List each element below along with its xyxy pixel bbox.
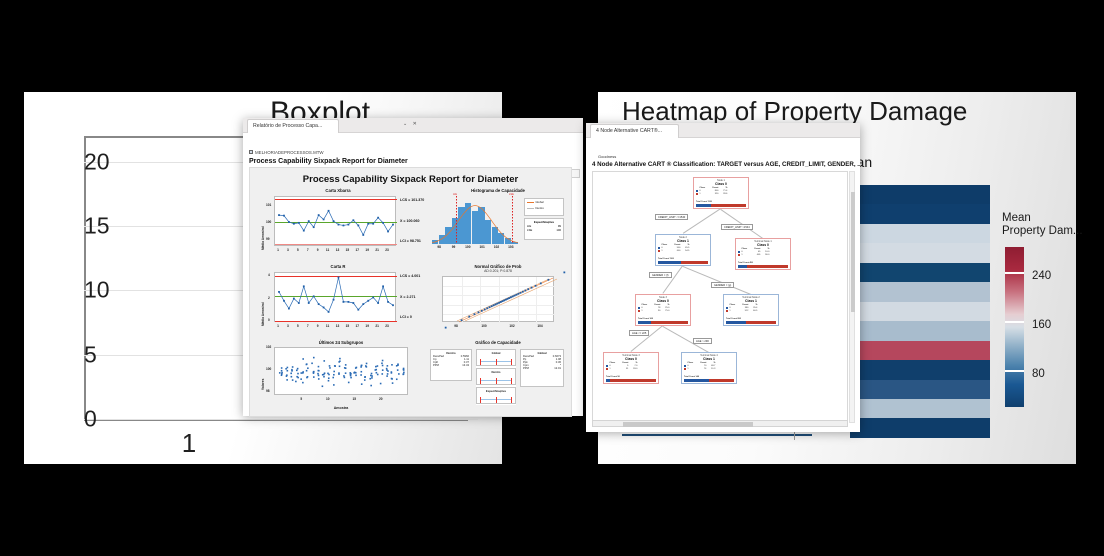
xbar-limit-label: LCI = 98.751 [400, 239, 421, 243]
histogram-x-tick: 101 [479, 245, 484, 249]
xbar-x-tick: 5 [297, 248, 299, 252]
r-x-tick: 13 [336, 324, 340, 328]
cart-hscroll-thumb[interactable] [623, 422, 753, 427]
cart-split-label: AGE > 290 [693, 338, 712, 344]
cart-tree-canvas[interactable]: Node 1Class 0ClassCount%080071.4132028.6… [592, 171, 848, 423]
r-plot-area [274, 272, 396, 322]
capability-mid-box: Global [476, 349, 516, 366]
cart-node-table-row: 15193.0 [606, 368, 656, 371]
xbar-x-tick: 21 [375, 248, 379, 252]
colorbar-tick-label: 160 [1032, 319, 1051, 331]
last-y-tick: 100 [266, 367, 271, 371]
normal-plot-area [442, 276, 554, 322]
cart-node-row-count: 74 [695, 368, 706, 371]
cart-node-row-pct: 90.0 [761, 254, 769, 257]
cart-node-row-swatch [738, 254, 740, 256]
colorbar-title-line2: Property Dam... [1002, 225, 1080, 238]
r-x-tick: 11 [326, 324, 329, 328]
r-y-tick: 2 [268, 296, 270, 300]
cart-node-row-swatch [726, 310, 728, 312]
cart-node-table: ClassCount%07048.717451.3 [682, 361, 736, 370]
capability-mid-tick [511, 378, 512, 384]
xbar-y-tick: 101 [266, 203, 271, 207]
histogram-plot-area [432, 196, 518, 244]
capability-panel: Gráfico de Capacidade DentroDesvPad0.596… [428, 340, 568, 416]
cart-node-bar [696, 204, 746, 207]
heatmap-colorbar-legend: Mean Property Dam... 24016080 [1002, 212, 1080, 407]
capability-within-box: DentroDesvPad0.5966Cp1.11CpK0.37PPM13.43 [430, 349, 472, 381]
cart-node-table: ClassCount%04510.0140590.0 [736, 247, 790, 256]
cart-node-table: ClassCount%080071.4132028.6 [694, 186, 748, 195]
histogram-spec-mark: LSE [509, 193, 514, 196]
histogram-legend-swatch [527, 208, 534, 209]
cart-node-row-class: 1 [661, 250, 668, 253]
r-x-tick: 17 [356, 324, 360, 328]
heatmap-cell [850, 282, 990, 301]
histogram-spec-line [456, 196, 457, 244]
xbar-series-points [275, 197, 395, 245]
screenshot-canvas: Boxplot 05101520 1 Heatmap of Property D… [0, 0, 1104, 556]
cart-node-table-row: 140590.0 [738, 254, 788, 257]
cart-node-row-pct: 28.6 [719, 193, 727, 196]
histogram-panel: Histograma de Capacidade GlobalDentro Es… [428, 188, 568, 260]
worksheet-icon [249, 150, 253, 154]
colorbar-wrap: 24016080 [1002, 247, 1080, 407]
cart-node-table-row: 19075.0 [638, 310, 688, 313]
capability-mid-tick [496, 378, 497, 384]
r-y-tick: 4 [268, 273, 270, 277]
cart-node: Terminal Node 2Class 1ClassCount%038035.… [723, 294, 779, 326]
cart-node: Terminal Node 4Class 1ClassCount%07048.7… [681, 352, 737, 384]
boxplot-x-category: 1 [24, 428, 354, 459]
xbar-y-tick: 100 [266, 220, 271, 224]
cart-node-row-class: 1 [609, 368, 616, 371]
xbar-x-tick: 7 [307, 248, 309, 252]
last-subgroups-points [275, 348, 407, 394]
capability-mid-tick [480, 378, 481, 384]
r-x-tick: 3 [287, 324, 289, 328]
normal-plot-points [443, 277, 553, 321]
cart-node-row-class: 1 [741, 254, 748, 257]
r-y-tick: 0 [268, 318, 270, 322]
cart-split-label: AGE <= 225 [629, 330, 649, 336]
capability-mid-title: Especificações [477, 388, 515, 393]
cart-node-bar-blue [658, 261, 681, 264]
heatmap-cell [850, 302, 990, 321]
heatmap-cell [850, 399, 990, 418]
cart-node-bar [606, 379, 656, 382]
xbar-x-tick: 19 [365, 248, 369, 252]
normal-plot-x-tick: 98 [454, 324, 458, 328]
heatmap-cell [850, 224, 990, 243]
last-subgroups-panel: Últimos 24 Subgrupos Valores Amostra 102… [258, 340, 424, 416]
cart-node: Node 2Class 1ClassCount%050045.5160054.5… [655, 234, 711, 266]
capability-overall-box: GlobalDesvPad0.6673Pp1.08Ppk0.36Cpm*PPM1… [520, 349, 564, 387]
minitab-worksheet-name: MELHORIADEPROCESSOS.MTW [249, 150, 324, 155]
r-x-tick: 9 [317, 324, 319, 328]
r-series-points [275, 273, 395, 321]
histogram-x-tick: 102 [494, 245, 499, 249]
xbar-x-tick: 13 [336, 248, 340, 252]
minitab-command-header: Process Capability Sixpack Report for Di… [249, 158, 408, 165]
histogram-x-tick: 99 [452, 245, 456, 249]
histogram-spec-line [512, 196, 513, 244]
histogram-legend-swatch [527, 202, 534, 203]
within-stat-value: 13.43 [462, 364, 469, 367]
last-x-tick: 10 [326, 397, 330, 401]
cart-node-bar-blue [726, 321, 746, 324]
cart-node-bar-blue [696, 204, 711, 207]
cart-node-bar-red [746, 321, 776, 324]
capability-mid-column: GlobalDentroEspecificações [476, 349, 516, 405]
capability-mid-box: Especificações [476, 387, 516, 404]
cart-node-table-row: 17451.3 [684, 368, 734, 371]
colorbar-title: Mean Property Dam... [1002, 212, 1080, 238]
cart-node-table-row: 151260.5 [726, 310, 776, 313]
r-x-tick: 7 [307, 324, 309, 328]
r-chart-panel: Carta R Média Amostral 02413579111315171… [258, 264, 418, 336]
within-stat-row: PPM13.43 [431, 364, 471, 367]
heatmap-cell [850, 204, 990, 223]
capability-mid-title: Global [477, 350, 515, 355]
cart-node-row-count: 512 [737, 310, 748, 313]
xbar-x-tick: 9 [317, 248, 319, 252]
cart-node-table: ClassCount%050045.5160054.5 [656, 243, 710, 252]
cart-node-row-class: 1 [729, 310, 736, 313]
r-chart-title: Carta R [258, 264, 418, 269]
tab-process-capability[interactable]: Relatório de Processo Capa... [247, 119, 339, 133]
histogram-legend: GlobalDentro [524, 198, 564, 216]
report-title: Process Capability Sixpack Report for Di… [250, 174, 571, 185]
cart-node-bar-red [711, 204, 746, 207]
r-limit-label: LCS = 4.001 [400, 274, 420, 278]
colorbar-title-line1: Mean [1002, 212, 1080, 225]
xbar-x-tick: 11 [326, 248, 329, 252]
colorbar-notch [1005, 272, 1024, 274]
cart-vscroll-thumb[interactable] [851, 192, 855, 312]
histogram-x-tick: 103 [508, 245, 513, 249]
last-y-tick: 102 [266, 345, 271, 349]
heatmap-cell [850, 263, 990, 282]
r-x-tick: 15 [346, 324, 350, 328]
boxplot-gridline [84, 419, 478, 420]
heatmap-baseline [622, 434, 812, 436]
r-limit-label: LCI = 0 [400, 315, 412, 319]
cart-node-row-count: 405 [749, 254, 760, 257]
cart-tabstrip: 4 Node Alternative CART®... [586, 123, 860, 138]
cart-node: Terminal Node 3Class 0ClassCount%057.015… [603, 352, 659, 384]
cart-node-row-pct: 93.0 [629, 368, 637, 371]
cart-node-bar [684, 379, 734, 382]
cart-node-bar [738, 265, 788, 268]
worksheet-name-text: MELHORIADEPROCESSOS.MTW [255, 150, 324, 155]
colorbar-notch [1005, 321, 1024, 323]
xbar-x-tick: 23 [385, 248, 389, 252]
colorbar-tick-label: 240 [1032, 270, 1051, 282]
last-subgroups-title: Últimos 24 Subgrupos [258, 340, 424, 345]
capability-mid-tick [511, 359, 512, 365]
cart-node-row-swatch [658, 250, 660, 252]
r-x-tick: 23 [385, 324, 389, 328]
capability-mid-tick [480, 397, 481, 403]
r-x-tick: 21 [375, 324, 379, 328]
normal-plot-x-tick: 100 [481, 324, 486, 328]
cart-node-bar [726, 321, 776, 324]
minitab-body: MELHORIADEPROCESSOS.MTW Process Capabili… [243, 133, 583, 416]
last-subgroups-plot-area [274, 347, 408, 395]
histogram-legend-row: Dentro [525, 205, 563, 211]
cart-node-row-class: 1 [687, 368, 694, 371]
last-x-tick: 15 [352, 397, 356, 401]
normal-plot-x-tick: 104 [537, 324, 542, 328]
cart-node-table: ClassCount%038035.4151260.5 [724, 303, 778, 312]
histogram-legend-label: Global [536, 200, 544, 204]
cart-edge [663, 266, 683, 294]
capability-mid-tick [511, 397, 512, 403]
cart-edge [683, 266, 751, 295]
cart-node: Terminal Node 1Class 0ClassCount%04510.0… [735, 238, 791, 270]
last-y-tick: 98 [266, 389, 270, 393]
cart-node-bar-red [610, 379, 656, 382]
cart-node-row-pct: 60.5 [749, 310, 757, 313]
capability-mid-tick [480, 359, 481, 365]
histogram-x-tick: 98 [437, 245, 441, 249]
cart-node-bar [658, 261, 708, 264]
xbar-chart-title: Carta Xbarra [258, 188, 418, 193]
xbar-x-tick: 17 [356, 248, 360, 252]
cart-node-row-swatch [606, 368, 608, 370]
xbar-x-tick: 1 [277, 248, 279, 252]
last-x-tick: 20 [379, 397, 383, 401]
cart-node-row-count: 320 [707, 193, 718, 196]
minitab-tabstrip: Relatório de Processo Capa... ⌄ ✕ [243, 118, 583, 133]
cart-node-bar-blue [638, 321, 651, 324]
cart-node-table: ClassCount%07825.019075.0 [636, 303, 690, 312]
cart-node-bar-blue [738, 265, 747, 268]
cart-node-row-swatch [696, 193, 698, 195]
r-x-tick: 1 [277, 324, 279, 328]
cart-node-row-count: 90 [649, 310, 660, 313]
colorbar-notch [1005, 370, 1024, 372]
xbar-limit-label: LCS = 101.370 [400, 198, 424, 202]
xbar-x-tick: 3 [287, 248, 289, 252]
cart-vertical-scrollbar[interactable] [849, 171, 855, 423]
r-x-tick: 5 [297, 324, 299, 328]
xbar-y-tick: 99 [266, 237, 270, 241]
xbar-x-tick: 15 [346, 248, 350, 252]
cart-split-label: CREDIT_LIMIT >1544 [721, 224, 753, 230]
cart-node-row-class: 1 [699, 193, 706, 196]
r-limit-label: X = 2.271 [400, 295, 416, 299]
cart-node-bar-red [709, 379, 734, 382]
within-stat-name: PPM [433, 364, 439, 367]
histogram-spec-box: EspecificaçõesLIE99LSE100 [524, 218, 564, 240]
overall-stat-name: PPM [523, 367, 529, 370]
cart-node-table-row: 160054.5 [658, 250, 708, 253]
cart-node-row-swatch [638, 310, 640, 312]
capability-mid-box: Dentro [476, 368, 516, 385]
cart-horizontal-scrollbar[interactable] [592, 420, 848, 427]
xbar-plot-area [274, 196, 396, 246]
normal-plot-subtitle: AD:0.201; P:0.878 [428, 269, 568, 273]
heatmap-cell [850, 321, 990, 340]
tab-cart-classification[interactable]: 4 Node Alternative CART®... [590, 124, 679, 138]
histogram-x-tick: 100 [465, 245, 470, 249]
last-subgroups-xlabel: Amostra [258, 406, 424, 410]
cart-node-row-pct: 51.3 [707, 368, 715, 371]
cart-edge [683, 209, 721, 234]
normal-plot-x-tick: 102 [509, 324, 514, 328]
xbar-limit-label: X = 100.060 [400, 219, 419, 223]
cart-split-label: GENDER = (g) [711, 282, 734, 288]
cart-header: 4 Node Alternative CART ® Classification… [592, 161, 862, 168]
heatmap-cell [850, 380, 990, 399]
heatmap-cell [850, 243, 990, 262]
cart-node-row-pct: 54.5 [681, 250, 689, 253]
capability-mid-tick [496, 397, 497, 403]
capability-mid-title: Dentro [477, 369, 515, 374]
cart-split-label: CREDIT_LIMIT <=1540 [655, 214, 688, 220]
heatmap-grid [850, 185, 990, 438]
spec-value: 100 [556, 228, 561, 232]
histogram-normal-curve [432, 196, 518, 244]
minitab-graph-options-button[interactable] [571, 169, 580, 178]
colorbar-tick-label: 80 [1032, 368, 1045, 380]
cart-node-bar-red [681, 261, 708, 264]
capability-title: Gráfico de Capacidade [428, 340, 568, 345]
cart-split-label: GENDER = (f) [649, 272, 672, 278]
last-x-tick: 5 [300, 397, 302, 401]
heatmap-cell [850, 360, 990, 379]
cart-node-row-count: 600 [669, 250, 680, 253]
overall-stat-row: PPM12.01 [521, 367, 563, 370]
spec-name: LSE [527, 228, 532, 232]
heatmap-cell [850, 418, 990, 437]
minitab-window[interactable]: Relatório de Processo Capa... ⌄ ✕ MELHOR… [243, 118, 583, 415]
cart-window[interactable]: 4 Node Alternative CART®... Goodness 4 N… [586, 123, 860, 431]
heatmap-cell [850, 185, 990, 204]
xbar-ylabel: Média Amostral [261, 226, 265, 250]
cart-node-bar-blue [684, 379, 709, 382]
r-x-tick: 19 [365, 324, 369, 328]
cart-node-bar [638, 321, 688, 324]
cart-node-row-count: 51 [617, 368, 628, 371]
r-ylabel: Média Amostral [261, 302, 265, 326]
spec-box-row: LSE100 [525, 228, 563, 232]
cart-body: Goodness 4 Node Alternative CART ® Class… [586, 138, 860, 432]
cart-node-bar-red [747, 265, 788, 268]
minitab-report-sheet: Process Capability Sixpack Report for Di… [249, 167, 572, 417]
histogram-legend-label: Dentro [536, 206, 544, 210]
tab-close-icon[interactable]: ⌄ ✕ [403, 121, 419, 127]
cart-node-bar-red [651, 321, 688, 324]
cart-node-row-class: 1 [641, 310, 648, 313]
cart-node-row-pct: 75.0 [661, 310, 669, 313]
cart-node-row-swatch [684, 368, 686, 370]
normal-plot-panel: Normal Gráfico de Prob AD:0.201; P:0.878… [428, 264, 568, 336]
cart-node: Node 1Class 0ClassCount%080071.4132028.6… [693, 177, 749, 209]
cart-node-table-row: 132028.6 [696, 193, 746, 196]
histogram-title: Histograma de Capacidade [428, 188, 568, 193]
capability-mid-tick [496, 359, 497, 365]
cart-node-table: ClassCount%057.015193.0 [604, 361, 658, 370]
heatmap-cell [850, 341, 990, 360]
overall-stat-value: 12.01 [554, 367, 561, 370]
xbar-chart-panel: Carta Xbarra Média Amostral 991001011357… [258, 188, 418, 260]
cart-group-label: Goodness [598, 154, 616, 159]
last-subgroups-ylabel: Valores [261, 379, 265, 390]
histogram-spec-mark: LIE [453, 193, 457, 196]
cart-node: Node 3Class 0ClassCount%07825.019075.0To… [635, 294, 691, 326]
